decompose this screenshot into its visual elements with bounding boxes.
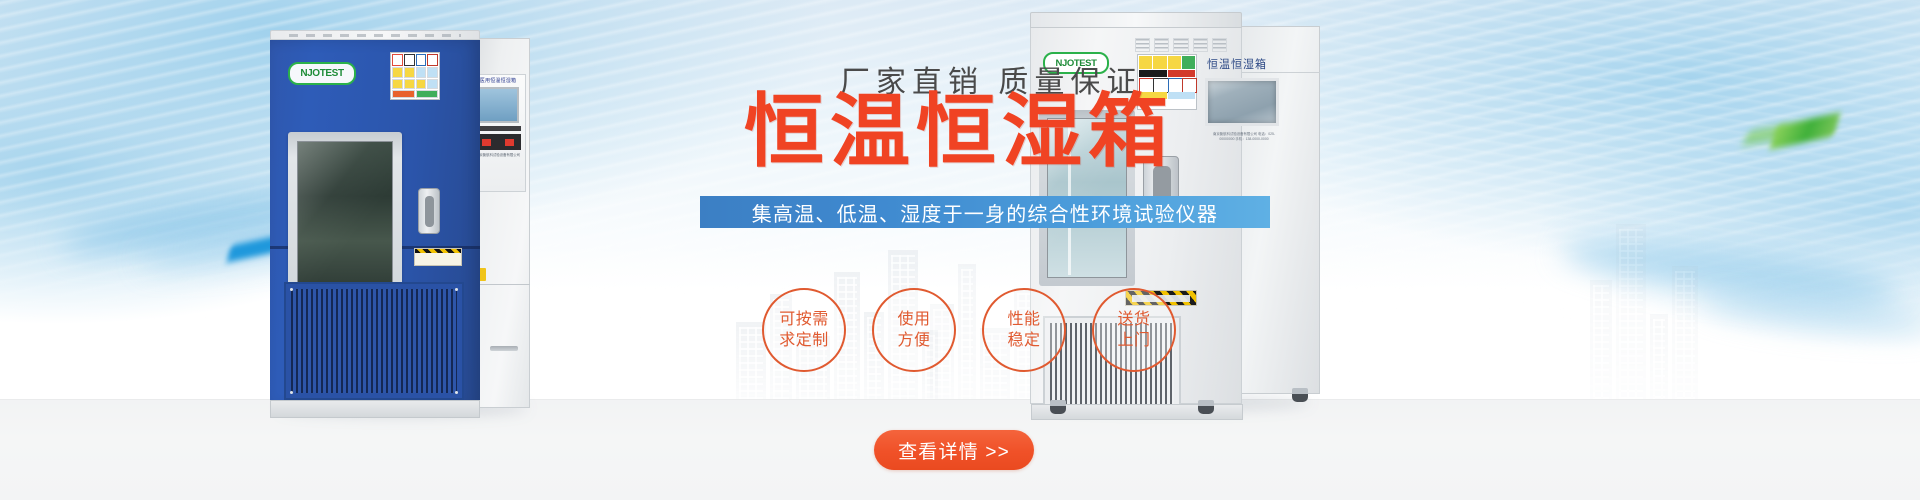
product-left-side-handle — [490, 346, 518, 351]
subtitle-bar: 集高温、低温、湿度于一身的综合性环境试验仪器 — [700, 196, 1270, 228]
product-left-label-strip — [475, 126, 521, 131]
badge-line-2: 上门 — [1117, 330, 1150, 351]
product-left-vent-grille — [284, 282, 464, 400]
product-left-display-screen — [477, 87, 519, 123]
product-left-top-cap — [270, 30, 480, 40]
product-left-viewing-window — [297, 141, 393, 303]
product-left-yellow-marker — [479, 268, 486, 281]
badge-line-2: 求定制 — [779, 330, 829, 351]
feature-badge-easy-use[interactable]: 使用 方便 — [872, 288, 956, 372]
badge-line-1: 使用 — [897, 309, 930, 330]
product-left-panel-title: 医用恒温恒湿箱 — [474, 78, 522, 85]
badge-line-2: 方便 — [897, 330, 930, 351]
caster-wheel — [1050, 400, 1066, 414]
product-left-vent-louvers — [291, 289, 457, 393]
page-title: 恒温恒湿箱 — [744, 92, 1174, 172]
product-right-top-vents — [1135, 38, 1227, 52]
product-left-door-handle — [418, 188, 440, 234]
feature-badge-group: 可按需 求定制 使用 方便 性能 稳定 送货 上门 — [762, 288, 1202, 368]
badge-line-1: 性能 — [1007, 309, 1040, 330]
product-right-panel-footnote: 南京聚航科试验设备有限公司 电话：025-00000000 手机：138-000… — [1209, 132, 1279, 142]
warning-label-panel-left — [390, 52, 440, 100]
caster-wheel — [1292, 388, 1308, 402]
feature-badge-custom[interactable]: 可按需 求定制 — [762, 288, 846, 372]
product-right-top-cap — [1030, 12, 1242, 28]
city-skyline-far-right — [1590, 210, 1730, 400]
feature-badge-stable[interactable]: 性能 稳定 — [982, 288, 1066, 372]
badge-line-1: 送货 — [1117, 309, 1150, 330]
indicator-led — [505, 139, 514, 146]
product-left-blue-body: NJOTEST — [270, 40, 480, 408]
product-left-indicator-row — [475, 134, 521, 150]
product-left-panel-footnote: 南京聚航科试验设备有限公司 — [474, 153, 522, 158]
promo-banner: 医用恒温恒湿箱 南京聚航科试验设备有限公司 NJOTEST — [0, 0, 1920, 500]
badge-line-2: 稳定 — [1007, 330, 1040, 351]
indicator-led — [482, 139, 491, 146]
product-left-brand-logo: NJOTEST — [288, 62, 356, 85]
feature-badge-delivery[interactable]: 送货 上门 — [1092, 288, 1176, 372]
subtitle-text: 集高温、低温、湿度于一身的综合性环境试验仪器 — [752, 198, 1218, 227]
view-details-button[interactable]: 查看详情 >> — [874, 430, 1034, 470]
product-right-model-label: 恒温恒湿箱 — [1207, 56, 1267, 73]
product-left-hazard-label — [414, 248, 462, 266]
badge-line-1: 可按需 — [779, 309, 829, 330]
caster-wheel — [1198, 400, 1214, 414]
product-left-base-plinth — [270, 400, 480, 418]
product-image-left: 医用恒温恒湿箱 南京聚航科试验设备有限公司 NJOTEST — [270, 30, 530, 408]
product-right-display-screen — [1205, 78, 1279, 126]
